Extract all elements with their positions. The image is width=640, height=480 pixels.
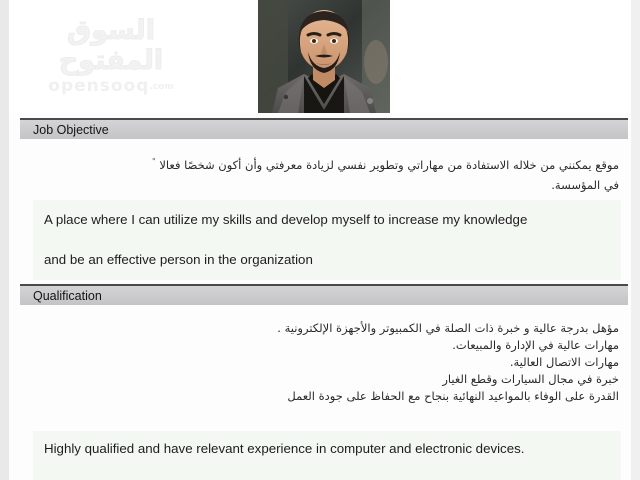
qualification-arabic-line-2: مهارات عالية في الإدارة والمبيعات. <box>27 337 619 354</box>
qualification-arabic-line-4: خبرة في مجال السيارات وقطع الغيار <box>27 371 619 388</box>
qualification-english-text: Highly qualified and have relevant exper… <box>33 431 621 480</box>
opensooq-watermark: السوق المفتوح opensooq.com <box>21 16 201 78</box>
qualification-english-line-1: Highly qualified and have relevant exper… <box>33 431 621 467</box>
job-objective-english-text: A place where I can utilize my skills an… <box>33 200 621 280</box>
section-title-job-objective: Job Objective <box>33 122 109 139</box>
job-objective-arabic-text: موقع يمكنني من خلاله الاستفادة من مهارات… <box>27 152 619 195</box>
qualification-arabic-list: مؤهل بدرجة عالية و خبرة ذات الصلة في الك… <box>27 320 619 405</box>
qualification-arabic-line-5: القدرة على الوفاء بالمواعيد النهائية بنج… <box>27 388 619 405</box>
job-objective-arabic-body-1: موقع يمكنني من خلاله الاستفادة من مهارات… <box>159 158 619 172</box>
document-header: السوق المفتوح opensooq.com <box>9 0 631 113</box>
watermark-domain-suffix: .com <box>149 82 173 92</box>
section-title-qualification: Qualification <box>33 288 102 305</box>
portrait-photo-graphic <box>258 0 390 113</box>
job-objective-arabic-line-2: في المؤسسة. <box>27 175 619 195</box>
qualification-arabic-line-1: مؤهل بدرجة عالية و خبرة ذات الصلة في الك… <box>27 320 619 337</box>
watermark-latin-text: opensooq.com <box>21 76 201 97</box>
applicant-photo <box>258 0 390 113</box>
cv-page: السوق المفتوح opensooq.com <box>0 0 640 480</box>
job-objective-arabic-line-1: موقع يمكنني من خلاله الاستفادة من مهارات… <box>27 152 619 175</box>
job-objective-english-line-1: A place where I can utilize my skills an… <box>33 200 621 240</box>
qualification-arabic-line-3: مهارات الاتصال العالية. <box>27 354 619 371</box>
section-header-qualification: Qualification <box>20 284 628 305</box>
page-right-gutter <box>631 0 640 480</box>
job-objective-quote-mark: " <box>152 157 156 166</box>
page-body: السوق المفتوح opensooq.com <box>9 0 631 480</box>
watermark-arabic-text: السوق المفتوح <box>21 16 201 76</box>
job-objective-english-line-2: and be an effective person in the organi… <box>33 240 621 280</box>
watermark-brand-name: opensooq <box>48 76 149 96</box>
page-left-gutter <box>0 0 9 480</box>
section-header-job-objective: Job Objective <box>20 118 628 139</box>
